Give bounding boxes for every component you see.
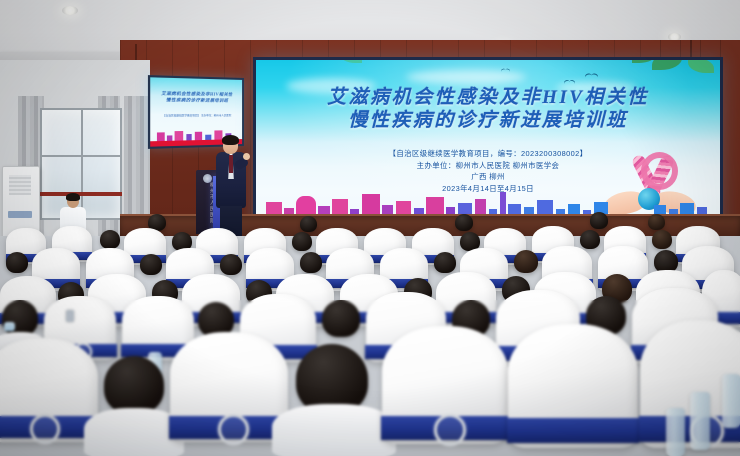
audience-head [140,254,162,275]
audience-head [300,216,317,232]
main-led-screen: 艾滋病机会性感染及非HIV相关性 慢性疾病的诊疗新进展培训班 【自治区级继续医学… [253,57,723,235]
ribbon-loop-icon [641,152,678,190]
cabinet-control-strip [8,211,32,218]
side-screen-title: 艾滋病机会性感染及非HIV相关性 慢性疾病的诊疗新进展培训班 [150,90,242,104]
chair-buckle-icon [218,414,249,445]
audience-head [455,214,473,231]
cabinet-vent-icon [9,175,31,195]
bystander-hair [66,193,80,201]
speaker-hand [243,153,250,160]
chair-buckle-icon [30,414,60,444]
side-screen-subtitle: 【自治区级继续医学教育项目】 主办单位：柳州市人民医院 [150,114,242,118]
chair-sash [507,418,640,443]
bird-icon [585,73,598,80]
downlight-icon [62,6,78,15]
audience-head [292,232,312,251]
smartphone[interactable] [66,310,74,322]
bird-icon [501,69,510,74]
window-mullion [42,155,120,157]
led-screen-title: 艾滋病机会性感染及非HIV相关性 慢性疾病的诊疗新进展培训班 [256,86,720,132]
audience-chair-foreground [508,324,638,448]
audience-head [300,252,322,273]
conference-hall-photo: 艾滋病机会性感染及非HIV相关性 慢性疾病的诊疗新进展培训班 【自治区级继续医学… [0,0,740,456]
water-bottle[interactable] [690,392,710,450]
audience-head [100,230,120,249]
audience-head [322,300,360,337]
speaker-presenter [215,137,249,235]
audience-shoulders [272,404,396,456]
led-title-line1: 艾滋病机会性感染及非HIV相关性 [327,87,649,108]
audience-head [648,214,665,230]
led-title-line2: 慢性疾病的诊疗新进展培训班 [256,109,720,132]
audience-chair-foreground [382,326,508,444]
water-bottle[interactable] [722,374,740,428]
audience-head [652,230,672,249]
audience-chair-foreground [170,332,288,442]
audience-head [220,254,242,275]
water-bottle[interactable] [666,408,685,456]
audience-head-foreground [104,356,164,414]
speaker-hair [222,135,239,145]
audience-head [6,252,28,273]
side-screen-title-line2: 慢性疾病的诊疗新进展培训班 [166,97,228,103]
side-screen-title-line1: 艾滋病机会性感染及非HIV相关性 [161,91,232,97]
face-mask-icon [4,322,15,331]
audience-head [514,250,538,273]
speaker-tie [229,155,233,173]
chair-buckle-icon [434,414,466,446]
audience-head [434,252,456,273]
